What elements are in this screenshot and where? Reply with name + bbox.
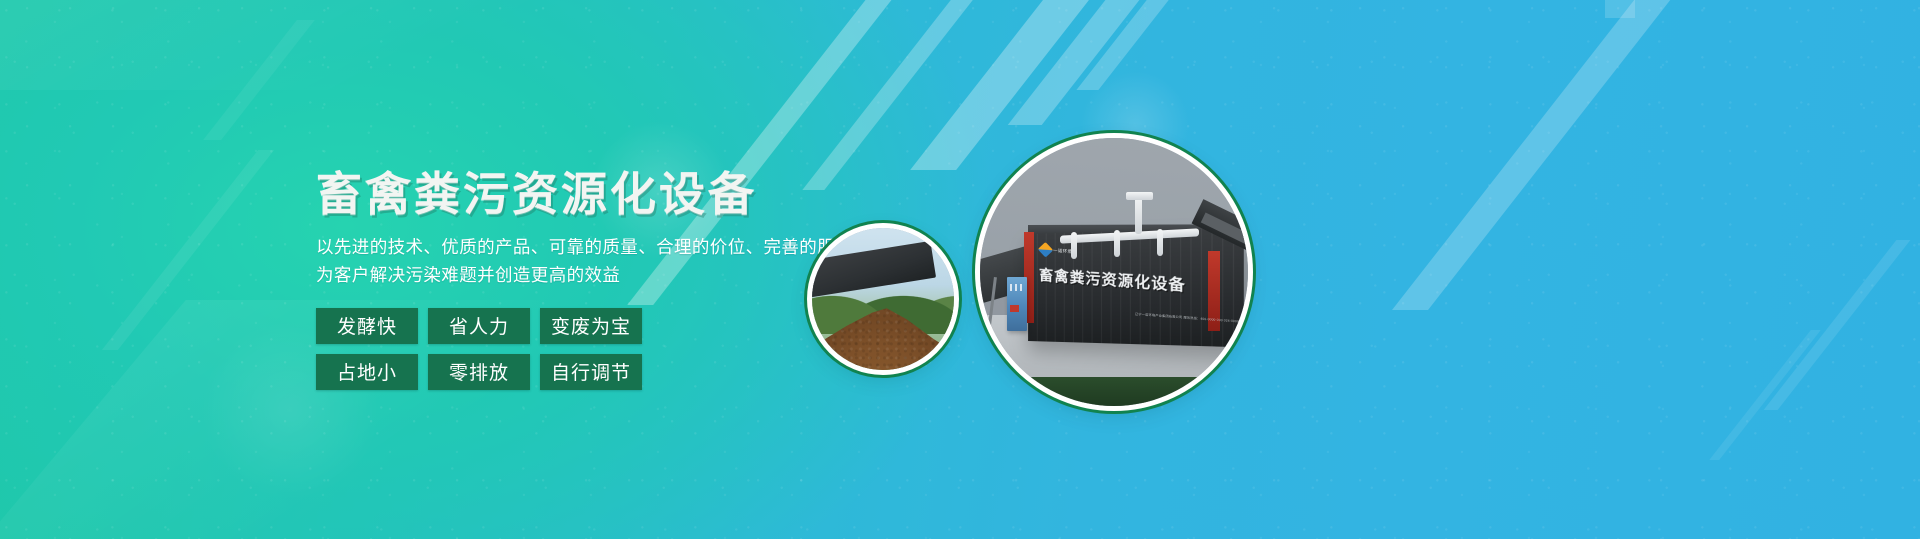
equipment-logo-text: 一诺环境 <box>1053 247 1072 254</box>
decor-stripe-9 <box>1709 330 1821 460</box>
feature-tag-labor-saving[interactable]: 省人力 <box>428 308 530 344</box>
feature-tag-zero-emission[interactable]: 零排放 <box>428 354 530 390</box>
equipment-grass-strip <box>980 377 1248 406</box>
feature-tag-waste-to-treasure[interactable]: 变废为宝 <box>540 308 642 344</box>
feature-tag-grid: 发酵快 省人力 变废为宝 占地小 零排放 自行调节 <box>316 308 642 390</box>
equipment-photo-circle: 一诺环境 畜禽粪污资源化设备 辽宁一诺环境产业集团有限公司 服务热线：400-0… <box>980 138 1248 406</box>
banner-headline: 畜禽粪污资源化设备 <box>316 168 1036 221</box>
decor-stripe-6 <box>1392 0 1764 310</box>
feature-tag-small-footprint[interactable]: 占地小 <box>316 354 418 390</box>
feature-tag-self-adjusting[interactable]: 自行调节 <box>540 354 642 390</box>
decor-square <box>1605 0 1635 18</box>
promo-banner: 畜禽粪污资源化设备 以先进的技术、优质的产品、可靠的质量、合理的价位、完善的服务… <box>0 0 1920 539</box>
compost-photo-circle <box>812 228 954 370</box>
equipment-pipe-riser-3 <box>1157 229 1163 256</box>
feature-tag-fermentation-speed[interactable]: 发酵快 <box>316 308 418 344</box>
decor-stripe-8 <box>1764 240 1911 410</box>
equipment-exhaust-stack <box>1135 194 1142 234</box>
equipment-stack-cap <box>1126 192 1153 200</box>
equipment-control-panel <box>1007 277 1027 331</box>
equipment-brand-logo: 一诺环境 <box>1040 244 1072 257</box>
decor-stripe-7 <box>102 150 274 350</box>
equipment-pipe-riser-2 <box>1114 230 1120 257</box>
background-diagonal-glow-1 <box>0 0 779 90</box>
decor-stripe-10 <box>203 20 315 140</box>
